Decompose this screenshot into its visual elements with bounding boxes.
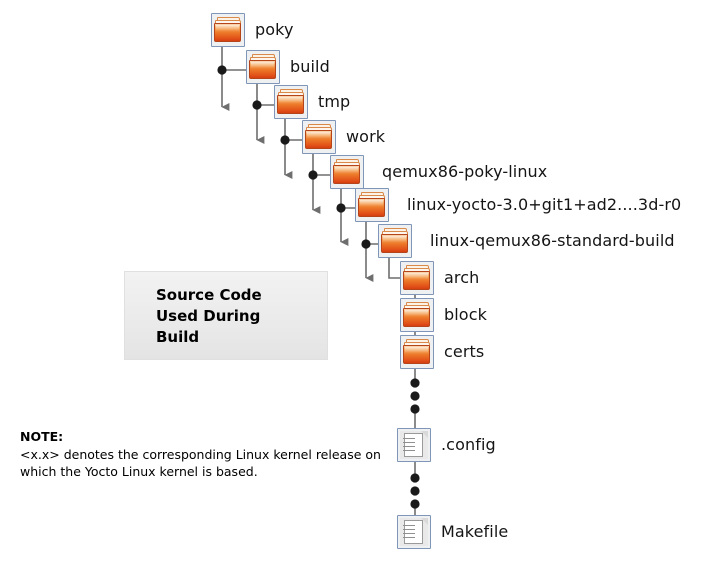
node-label-linux-yocto: linux-yocto-3.0+git1+ad2....3d-r0 (407, 188, 681, 222)
document-icon (397, 428, 431, 462)
folder-icon (211, 13, 245, 47)
connector-lines (0, 0, 705, 581)
note-block: NOTE: <x.x> denotes the corresponding Li… (20, 429, 390, 480)
folder-icon (400, 298, 434, 332)
note-title: NOTE: (20, 429, 390, 445)
node-label-build: build (290, 50, 330, 84)
folder-icon (378, 224, 412, 258)
source-code-callout-text: Source Code Used During Build (156, 285, 262, 348)
diagram-canvas: poky build tmp work qemux86-poky-linux l… (0, 0, 705, 581)
folder-icon (400, 261, 434, 295)
node-label-qemux86-poky-linux: qemux86-poky-linux (382, 155, 547, 189)
node-label-tmp: tmp (318, 85, 350, 119)
document-icon (397, 515, 431, 549)
node-label-poky: poky (255, 13, 294, 47)
folder-icon (302, 120, 336, 154)
source-code-callout-box: Source Code Used During Build (124, 271, 328, 360)
folder-icon (355, 188, 389, 222)
node-label-block: block (444, 298, 487, 332)
node-label-arch: arch (444, 261, 479, 295)
folder-icon (330, 155, 364, 189)
node-label-makefile: Makefile (441, 515, 508, 549)
node-label-linux-qemux86-standard-build: linux-qemux86-standard-build (430, 224, 675, 258)
folder-icon (274, 85, 308, 119)
folder-icon (246, 50, 280, 84)
node-label-certs: certs (444, 335, 484, 369)
node-label-config-file: .config (441, 428, 496, 462)
note-body: <x.x> denotes the corresponding Linux ke… (20, 446, 390, 480)
node-label-work: work (346, 120, 385, 154)
folder-icon (400, 335, 434, 369)
